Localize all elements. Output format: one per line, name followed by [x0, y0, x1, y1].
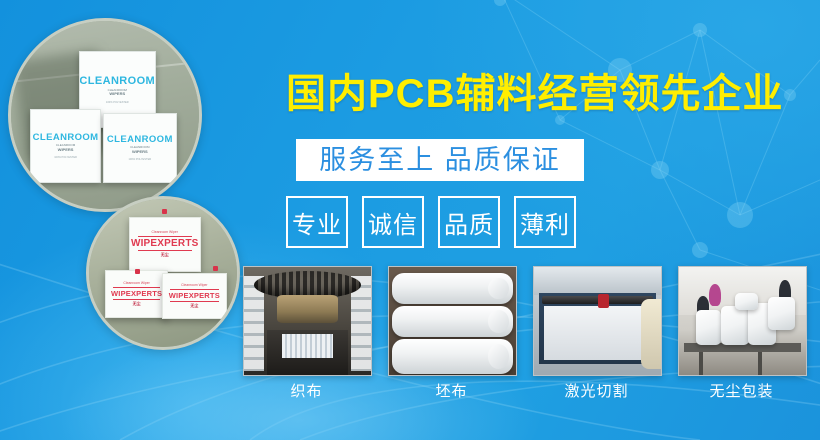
process-photo-greige-fabric — [388, 266, 517, 376]
bale-brand-text: WIPEXPERTS — [131, 238, 199, 249]
bale-rule — [138, 236, 192, 237]
package-brand-text: CLEANROOM — [107, 135, 173, 145]
wipe-bale: Cleanroom Wiper WIPEXPERTS 无尘 — [162, 273, 228, 319]
package-brand-text: CLEANROOM — [79, 76, 155, 87]
machine-hub — [277, 295, 338, 323]
process-caption: 织布 — [243, 384, 370, 399]
process-photo-strip: 织布 坯布 — [243, 266, 805, 399]
process-item-cleanroom-packing[interactable]: 无尘包装 — [678, 266, 805, 399]
wipe-package: CLEANROOM CLEANROOM WIPERS 100% POLYESTE… — [103, 113, 176, 183]
fabric-roll — [392, 306, 514, 337]
promotional-banner: CLEANROOM CLEANROOM WIPERS 100% POLYESTE… — [0, 0, 820, 440]
bale-rule — [113, 287, 160, 288]
package-line3: 100% POLYESTER — [54, 156, 77, 159]
process-caption: 坯布 — [388, 384, 515, 399]
bale-top-text: Cleanroom Wiper — [152, 230, 178, 234]
knitted-fabric — [282, 334, 333, 358]
feature-tag-quality[interactable]: 品质 — [438, 196, 500, 248]
subtitle-plate: 服务至上 品质保证 — [296, 139, 584, 181]
table-leg — [699, 352, 703, 375]
package-line3: 100% POLYESTER — [128, 158, 151, 161]
wipe-bag-stack — [696, 310, 721, 345]
table-leg — [758, 352, 762, 375]
feature-tag-low-margin[interactable]: 薄利 — [514, 196, 576, 248]
process-item-laser-cutting[interactable]: 激光切割 — [533, 266, 660, 399]
bale-rule — [113, 299, 160, 300]
package-line2: WIPERS — [109, 92, 125, 96]
machine-side-panel — [641, 299, 661, 368]
process-item-weaving[interactable]: 织布 — [243, 266, 370, 399]
process-caption: 无尘包装 — [678, 384, 805, 399]
wipe-package: CLEANROOM CLEANROOM WIPERS 100% POLYESTE… — [30, 109, 102, 182]
wipe-bag-stack — [768, 297, 795, 329]
cutting-bed — [544, 306, 651, 360]
feature-tag-list: 专业 诚信 品质 薄利 — [286, 196, 576, 248]
process-photo-weaving — [243, 266, 372, 376]
bale-mark-text: 无尘 — [161, 252, 169, 258]
bale-red-stamp — [213, 266, 218, 271]
room-wall — [534, 267, 661, 295]
package-brand-text: CLEANROOM — [33, 133, 99, 143]
product-photo-cleanroom-wipes: CLEANROOM CLEANROOM WIPERS 100% POLYESTE… — [8, 18, 202, 212]
wipe-bag-stack — [721, 306, 749, 345]
package-line3: 100% POLYESTER — [106, 101, 129, 104]
bale-mark-text: 无尘 — [190, 303, 198, 309]
bale-top-text: Cleanroom Wiper — [123, 281, 149, 285]
subtitle-text: 服务至上 品质保证 — [319, 147, 561, 174]
product-photo-wipexperts-bales: Cleanroom Wiper WIPEXPERTS 无尘 Cleanroom … — [86, 196, 240, 350]
process-caption: 激光切割 — [533, 384, 660, 399]
page-title: 国内PCB辅料经营领先企业 — [286, 74, 783, 114]
package-line2: WIPERS — [58, 148, 74, 152]
process-item-greige-fabric[interactable]: 坯布 — [388, 266, 515, 399]
bale-top-text: Cleanroom Wiper — [181, 283, 207, 287]
bale-brand-text: WIPEXPERTS — [169, 291, 220, 300]
bale-mark-text: 无尘 — [133, 301, 141, 307]
bale-red-stamp — [135, 269, 140, 274]
fabric-roll — [392, 273, 514, 303]
process-photo-laser-cutting — [533, 266, 662, 376]
worker-figure — [709, 284, 720, 306]
bale-rule — [170, 289, 220, 290]
wipe-bag-stack — [735, 293, 758, 310]
wipe-bale: Cleanroom Wiper WIPEXPERTS 无尘 — [129, 217, 201, 272]
laser-head — [598, 294, 609, 308]
feature-tag-professional[interactable]: 专业 — [286, 196, 348, 248]
package-line2: WIPERS — [132, 150, 148, 154]
fabric-roll — [392, 339, 514, 374]
feature-tag-integrity[interactable]: 诚信 — [362, 196, 424, 248]
bale-red-stamp — [162, 209, 167, 214]
bale-brand-text: WIPEXPERTS — [111, 289, 162, 298]
wipe-bale: Cleanroom Wiper WIPEXPERTS 无尘 — [105, 270, 168, 318]
process-photo-cleanroom-packing — [678, 266, 807, 376]
